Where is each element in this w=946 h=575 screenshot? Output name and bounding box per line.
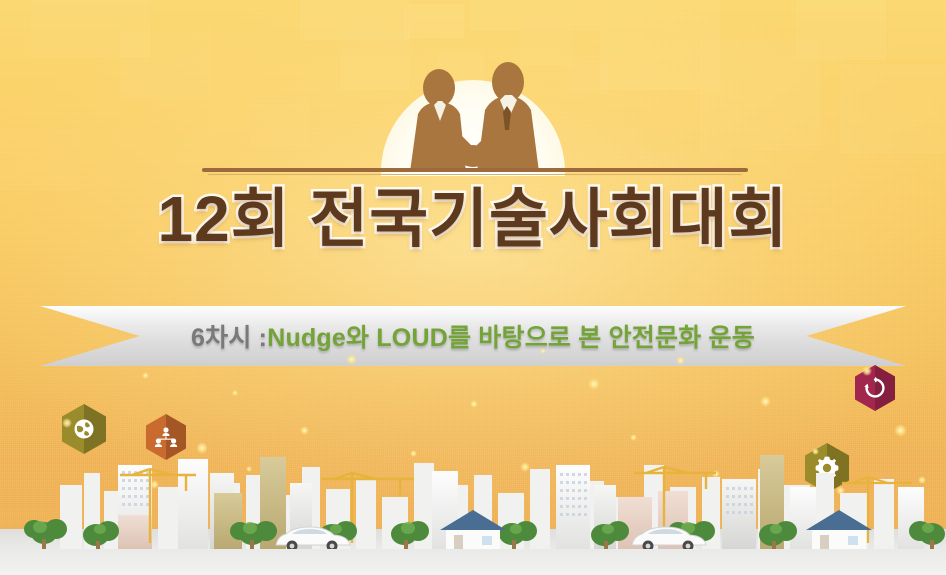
subtitle-text: 6차시 : Nudge와 LOUD를 바탕으로 본 안전문화 운동 xyxy=(40,306,906,366)
handshake-icon xyxy=(368,56,578,176)
cityscape-illustration xyxy=(0,445,946,575)
divider-rule xyxy=(202,168,748,175)
presentation-slide: 12회 전국기술사회대회 6차시 : Nudge와 LOUD를 바탕으로 본 안… xyxy=(0,0,946,575)
subtitle-segment-main: Nudge와 LOUD를 바탕으로 본 안전문화 운동 xyxy=(267,318,755,354)
globe-icon xyxy=(72,417,96,441)
recycle-icon xyxy=(863,376,887,400)
subtitle-segment-prefix: 6차시 : xyxy=(191,318,267,354)
handshake-emblem xyxy=(368,56,578,176)
city-buildings xyxy=(0,439,946,549)
badge-recycle[interactable] xyxy=(855,365,895,411)
page-title: 12회 전국기술사회대회 xyxy=(0,186,946,253)
